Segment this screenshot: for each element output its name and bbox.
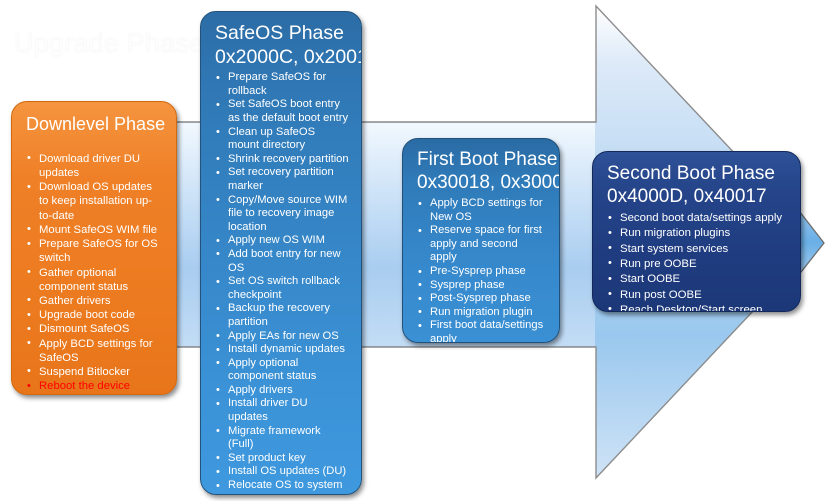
list-item: Apply new OS WIM [213,234,349,248]
list-item: Gather drivers [24,294,164,308]
phase-card-safeos[interactable]: SafeOS Phase 0x2000C, 0x20017 Prepare Sa… [200,11,362,495]
list-item: Apply drivers [213,384,349,398]
list-item: Start OOBE [605,272,788,287]
list-item: Prepare SafeOS for rollback [213,71,349,98]
list-item: Relocate OS to system drive root [213,479,349,495]
phase-title-second-boot: Second Boot Phase [607,163,788,185]
list-item: Run post OOBE [605,288,788,303]
phase-card-downlevel[interactable]: Downlevel Phase Download driver DU updat… [11,101,177,395]
list-item: Apply BCD settings for New OS [415,197,547,224]
list-item: Sysprep phase [415,279,547,293]
list-item: Apply BCD settings for SafeOS [24,337,164,365]
list-item: Gather optional component status [24,266,164,294]
list-item: Upgrade boot code [24,308,164,322]
phase-steps-second-boot: Second boot data/settings apply Run migr… [605,211,788,312]
list-item: Backup the recovery partition [213,302,349,329]
list-item: Clean up SafeOS mount directory [213,126,349,153]
list-item: Migrate framework (Full) [213,425,349,452]
list-item: Run migration plugins [605,226,788,241]
phase-card-second-boot[interactable]: Second Boot Phase 0x4000D, 0x40017 Secon… [592,151,801,312]
list-item: Prepare SafeOS for OS switch [24,237,164,265]
list-item: Download OS updates to keep installation… [24,180,164,223]
list-item: Post-Sysprep phase [415,292,547,306]
list-item: Install OS updates (DU) [213,465,349,479]
list-item: Run pre OOBE [605,257,788,272]
phase-steps-safeos: Prepare SafeOS for rollback Set SafeOS b… [213,71,349,495]
phase-steps-first-boot: Apply BCD settings for New OS Reserve sp… [415,197,547,343]
list-item: Apply optional component status [213,357,349,384]
list-item: Install dynamic updates [213,343,349,357]
list-item: Second boot data/settings apply [605,211,788,226]
phase-code-first-boot: 0x30018, 0x3000D [417,172,547,194]
list-item: Dismount SafeOS [24,322,164,336]
phase-code-safeos: 0x2000C, 0x20017 [215,46,349,69]
list-item: Apply EAs for new OS [213,330,349,344]
phase-code-second-boot: 0x4000D, 0x40017 [607,186,788,208]
list-item: Copy/Move source WIM file to recovery im… [213,194,349,235]
list-item: Set OS switch rollback checkpoint [213,275,349,302]
list-item: Reach Desktop/Start screen [605,303,788,312]
phase-title-downlevel: Downlevel Phase [26,114,164,135]
phase-steps-downlevel: Download driver DU updates Download OS u… [24,152,164,393]
list-item: Mount SafeOS WIM file [24,223,164,237]
list-item: Start system services [605,242,788,257]
list-item-reboot: Reboot the device [24,379,164,393]
list-item: Install driver DU updates [213,397,349,424]
upgrade-phases-diagram: Upgrade Phases [0,0,825,501]
list-item: Reserve space for first apply and second… [415,224,547,265]
list-item: Download driver DU updates [24,152,164,180]
list-item: Shrink recovery partition [213,153,349,167]
list-item: First boot data/settings apply [415,319,547,343]
list-item: Run migration plugin [415,306,547,320]
list-item: Pre-Sysprep phase [415,265,547,279]
phase-card-first-boot[interactable]: First Boot Phase 0x30018, 0x3000D Apply … [402,138,560,343]
list-item: Add boot entry for new OS [213,248,349,275]
list-item: Set product key [213,452,349,466]
list-item: Suspend Bitlocker [24,365,164,379]
list-item: Set recovery partition marker [213,166,349,193]
phase-title-safeos: SafeOS Phase [215,22,349,45]
phase-title-first-boot: First Boot Phase [417,149,547,171]
list-item: Set SafeOS boot entry as the default boo… [213,98,349,125]
